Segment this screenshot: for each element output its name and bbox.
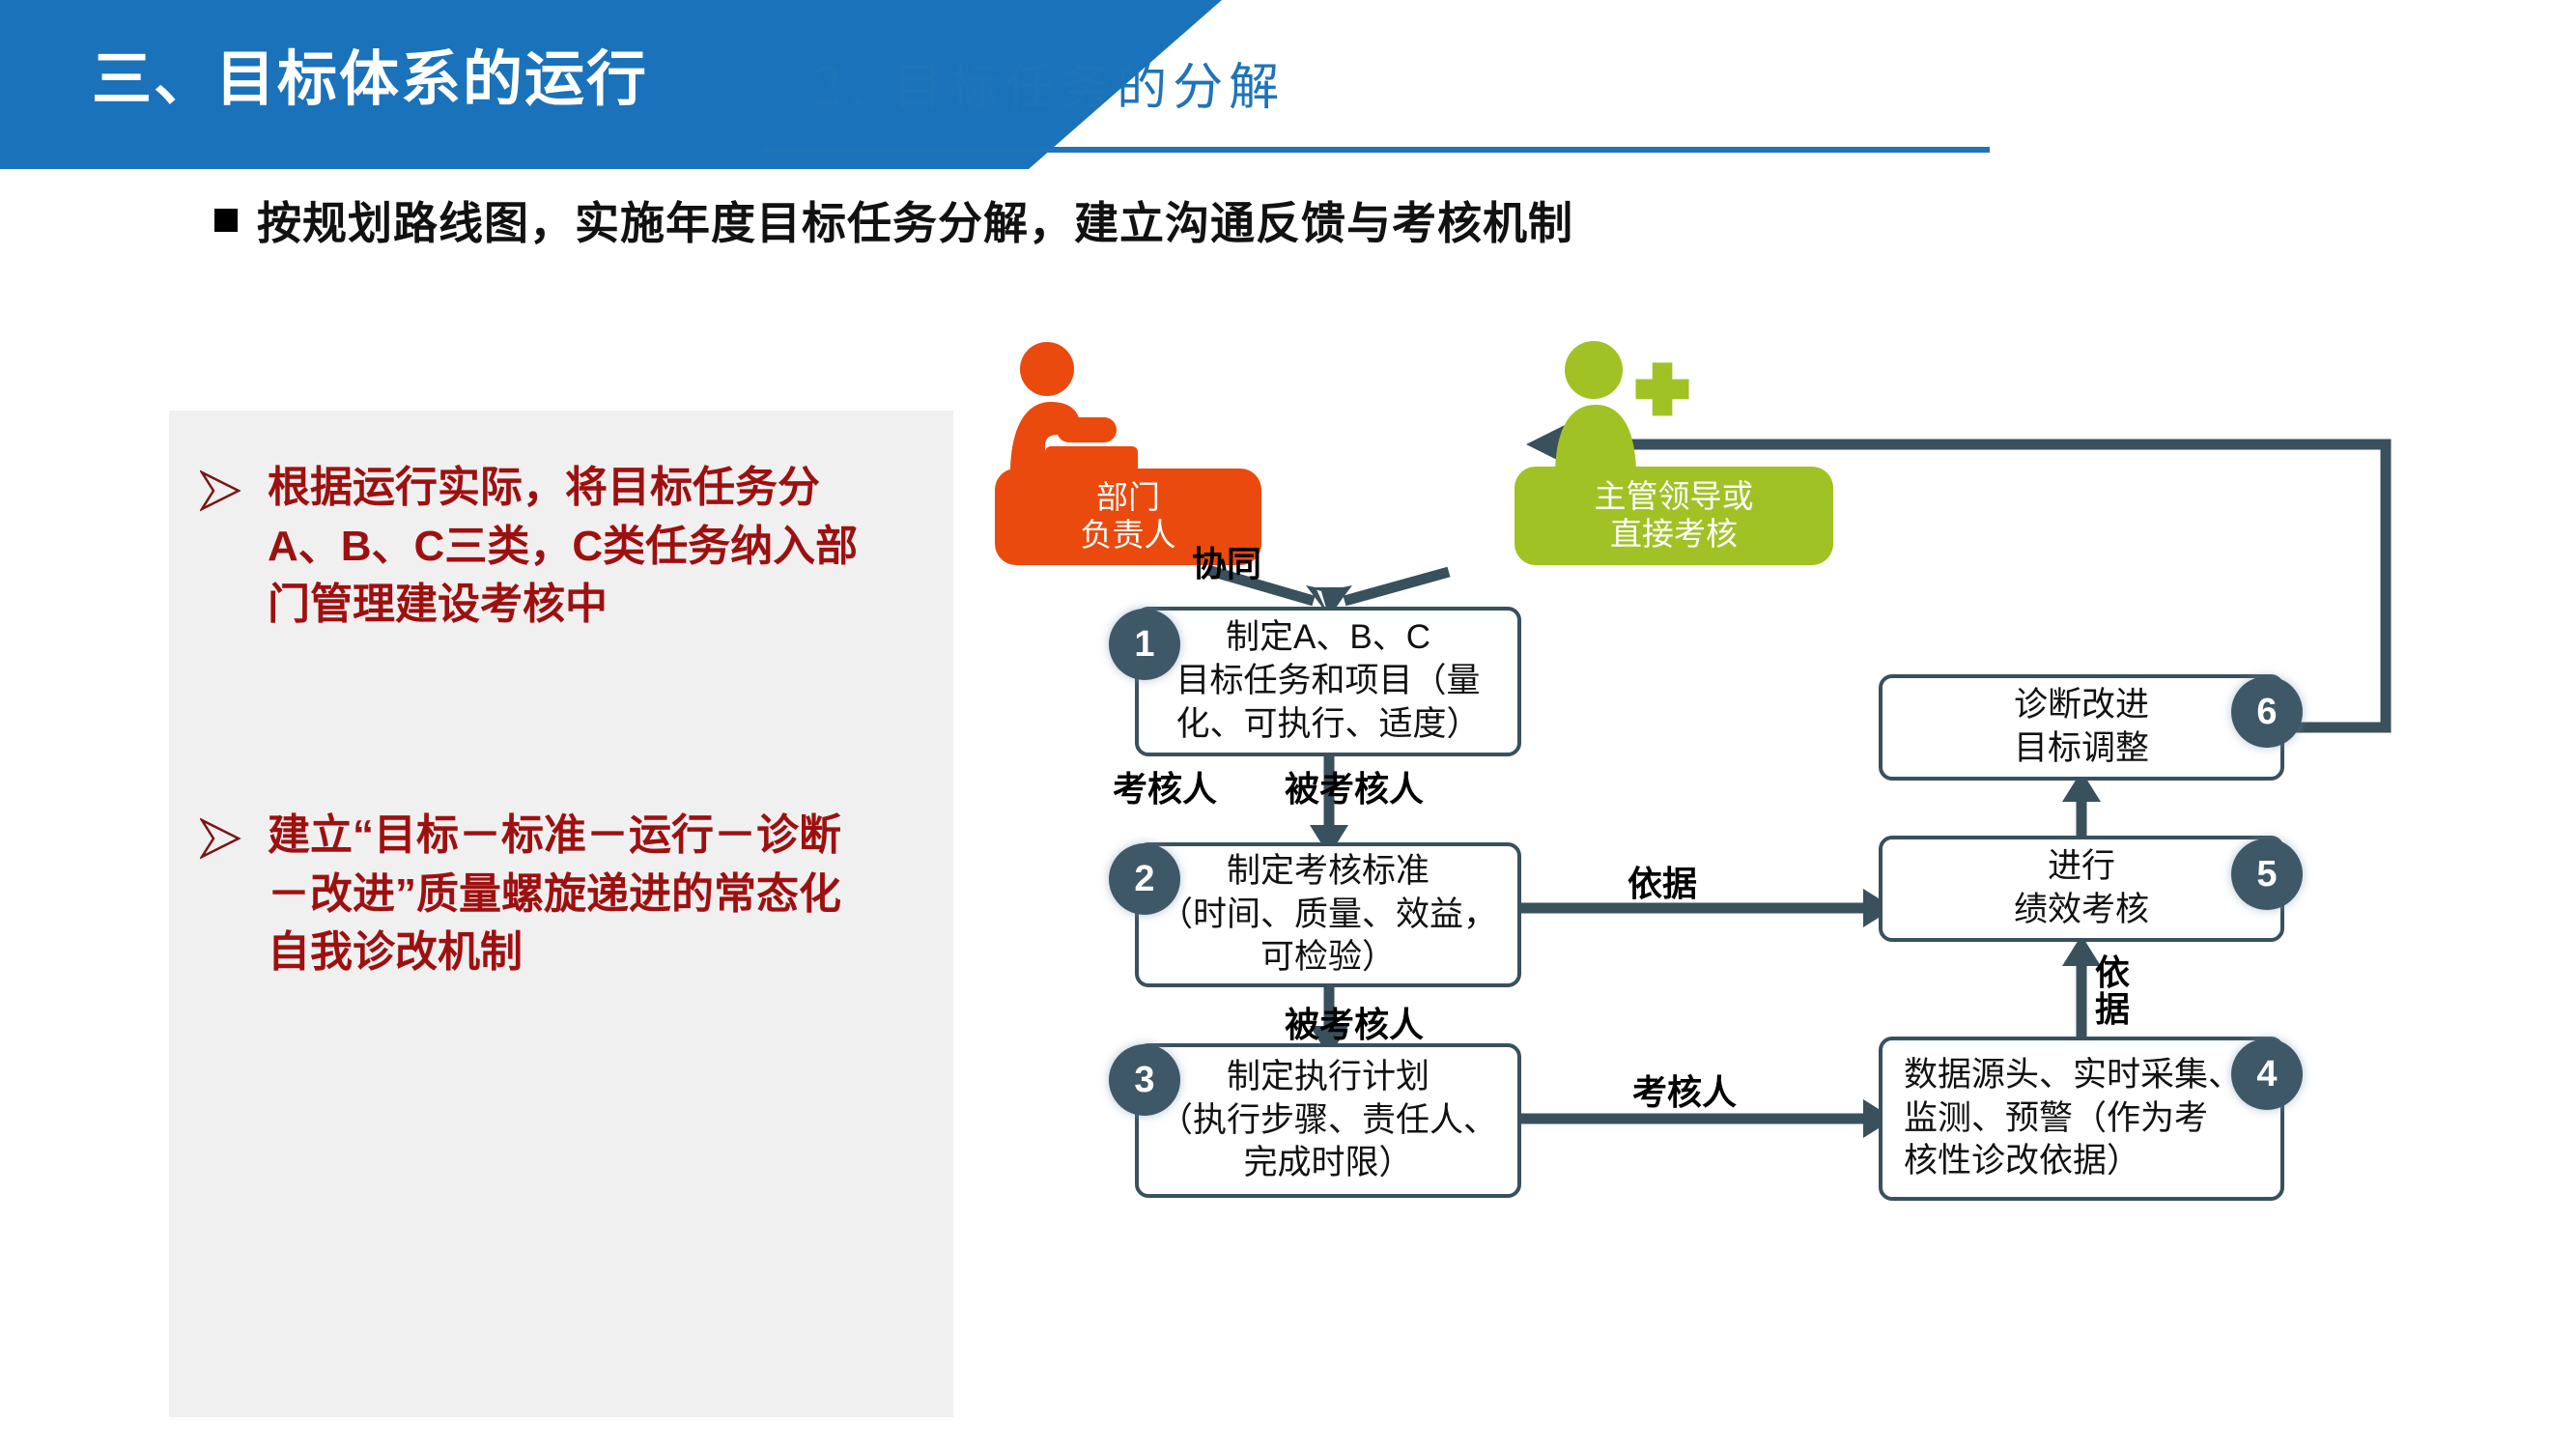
edge-label-kaoheren-1: 考核人	[1113, 761, 1217, 811]
edge-label-yiju-1: 依据	[1628, 856, 1697, 906]
headline-row: 按规划路线图，实施年度目标任务分解，建立沟通反馈与考核机制	[214, 189, 2243, 251]
edge-label-kaoheren-2: 考核人	[1632, 1065, 1737, 1115]
note-item-1: 根据运行实际，将目标任务分A、B、C三类，C类任务纳入部门管理建设考核中	[200, 459, 874, 635]
step-box-6: 诊断改进 目标调整	[1879, 674, 2284, 781]
step-box-5: 进行 绩效考核	[1879, 836, 2284, 942]
edge-label-beikaoheren-1: 被考核人	[1285, 761, 1424, 811]
section-underline	[763, 147, 1990, 153]
step-badge-2: 2	[1109, 843, 1180, 915]
step-badge-6: 6	[2231, 676, 2303, 748]
step-box-2-text: 制定考核标准 （时间、质量、效益， 可检验）	[1159, 850, 1497, 980]
step-box-4-text: 数据源头、实时采集、 监测、预警（作为考 核性诊改依据）	[1904, 1054, 2242, 1183]
note-item-1-text: 根据运行实际，将目标任务分A、B、C三类，C类任务纳入部门管理建设考核中	[268, 459, 874, 635]
square-bullet-icon	[214, 209, 238, 232]
actor-dept-line2: 负责人	[1081, 517, 1176, 554]
edge-label-xietong: 协同	[1192, 536, 1261, 586]
edge-label-yiju-2: 依据	[2094, 954, 2131, 1028]
step-box-3-text: 制定执行计划 （执行步骤、责任人、 完成时限）	[1159, 1056, 1497, 1185]
process-diagram: 部门 负责人 主管领导或 直接考核 制定A、B、C 目标任务和项目（量 化、可执…	[966, 328, 2550, 1449]
step-box-4: 数据源头、实时采集、 监测、预警（作为考 核性诊改依据）	[1879, 1037, 2284, 1201]
step-badge-5: 5	[2231, 839, 2303, 910]
step-badge-3: 3	[1109, 1044, 1180, 1116]
edge-label-beikaoheren-2: 被考核人	[1285, 997, 1424, 1047]
step-box-1-text: 制定A、B、C 目标任务和项目（量 化、可执行、适度）	[1175, 616, 1480, 746]
arrow-bullet-icon	[200, 816, 242, 861]
step-badge-1: 1	[1109, 609, 1180, 680]
step-box-3: 制定执行计划 （执行步骤、责任人、 完成时限）	[1135, 1043, 1521, 1198]
person-plus-icon	[1543, 333, 1727, 483]
banner-underline	[72, 141, 254, 151]
slide-canvas: 三、目标体系的运行 2. 目标任务的分解 按规划路线图，实施年度目标任务分解，建…	[0, 0, 2576, 1450]
actor-leader-line1: 主管领导或	[1595, 478, 1754, 516]
step-box-2: 制定考核标准 （时间、质量、效益， 可检验）	[1135, 842, 1521, 987]
section-subtitle: 2. 目标任务的分解	[811, 46, 1285, 119]
step-box-5-text: 进行 绩效考核	[2014, 845, 2149, 932]
person-sitting-icon	[987, 338, 1151, 483]
actor-leader-line2: 直接考核	[1610, 516, 1738, 554]
actor-box-leader: 主管领导或 直接考核	[1514, 467, 1833, 565]
headline-text: 按规划路线图，实施年度目标任务分解，建立沟通反馈与考核机制	[257, 188, 1573, 252]
step-badge-4: 4	[2231, 1038, 2303, 1110]
arrow-bullet-icon	[200, 469, 242, 513]
note-item-2: 建立“目标－标准－运行－诊断－改进”质量螺旋递进的常态化自我诊改机制	[200, 807, 874, 982]
actor-dept-line1: 部门	[1096, 479, 1160, 517]
step-box-6-text: 诊断改进 目标调整	[2014, 684, 2149, 771]
note-item-2-text: 建立“目标－标准－运行－诊断－改进”质量螺旋递进的常态化自我诊改机制	[268, 807, 874, 982]
page-title: 三、目标体系的运行	[92, 39, 710, 122]
step-box-1: 制定A、B、C 目标任务和项目（量 化、可执行、适度）	[1135, 607, 1521, 756]
